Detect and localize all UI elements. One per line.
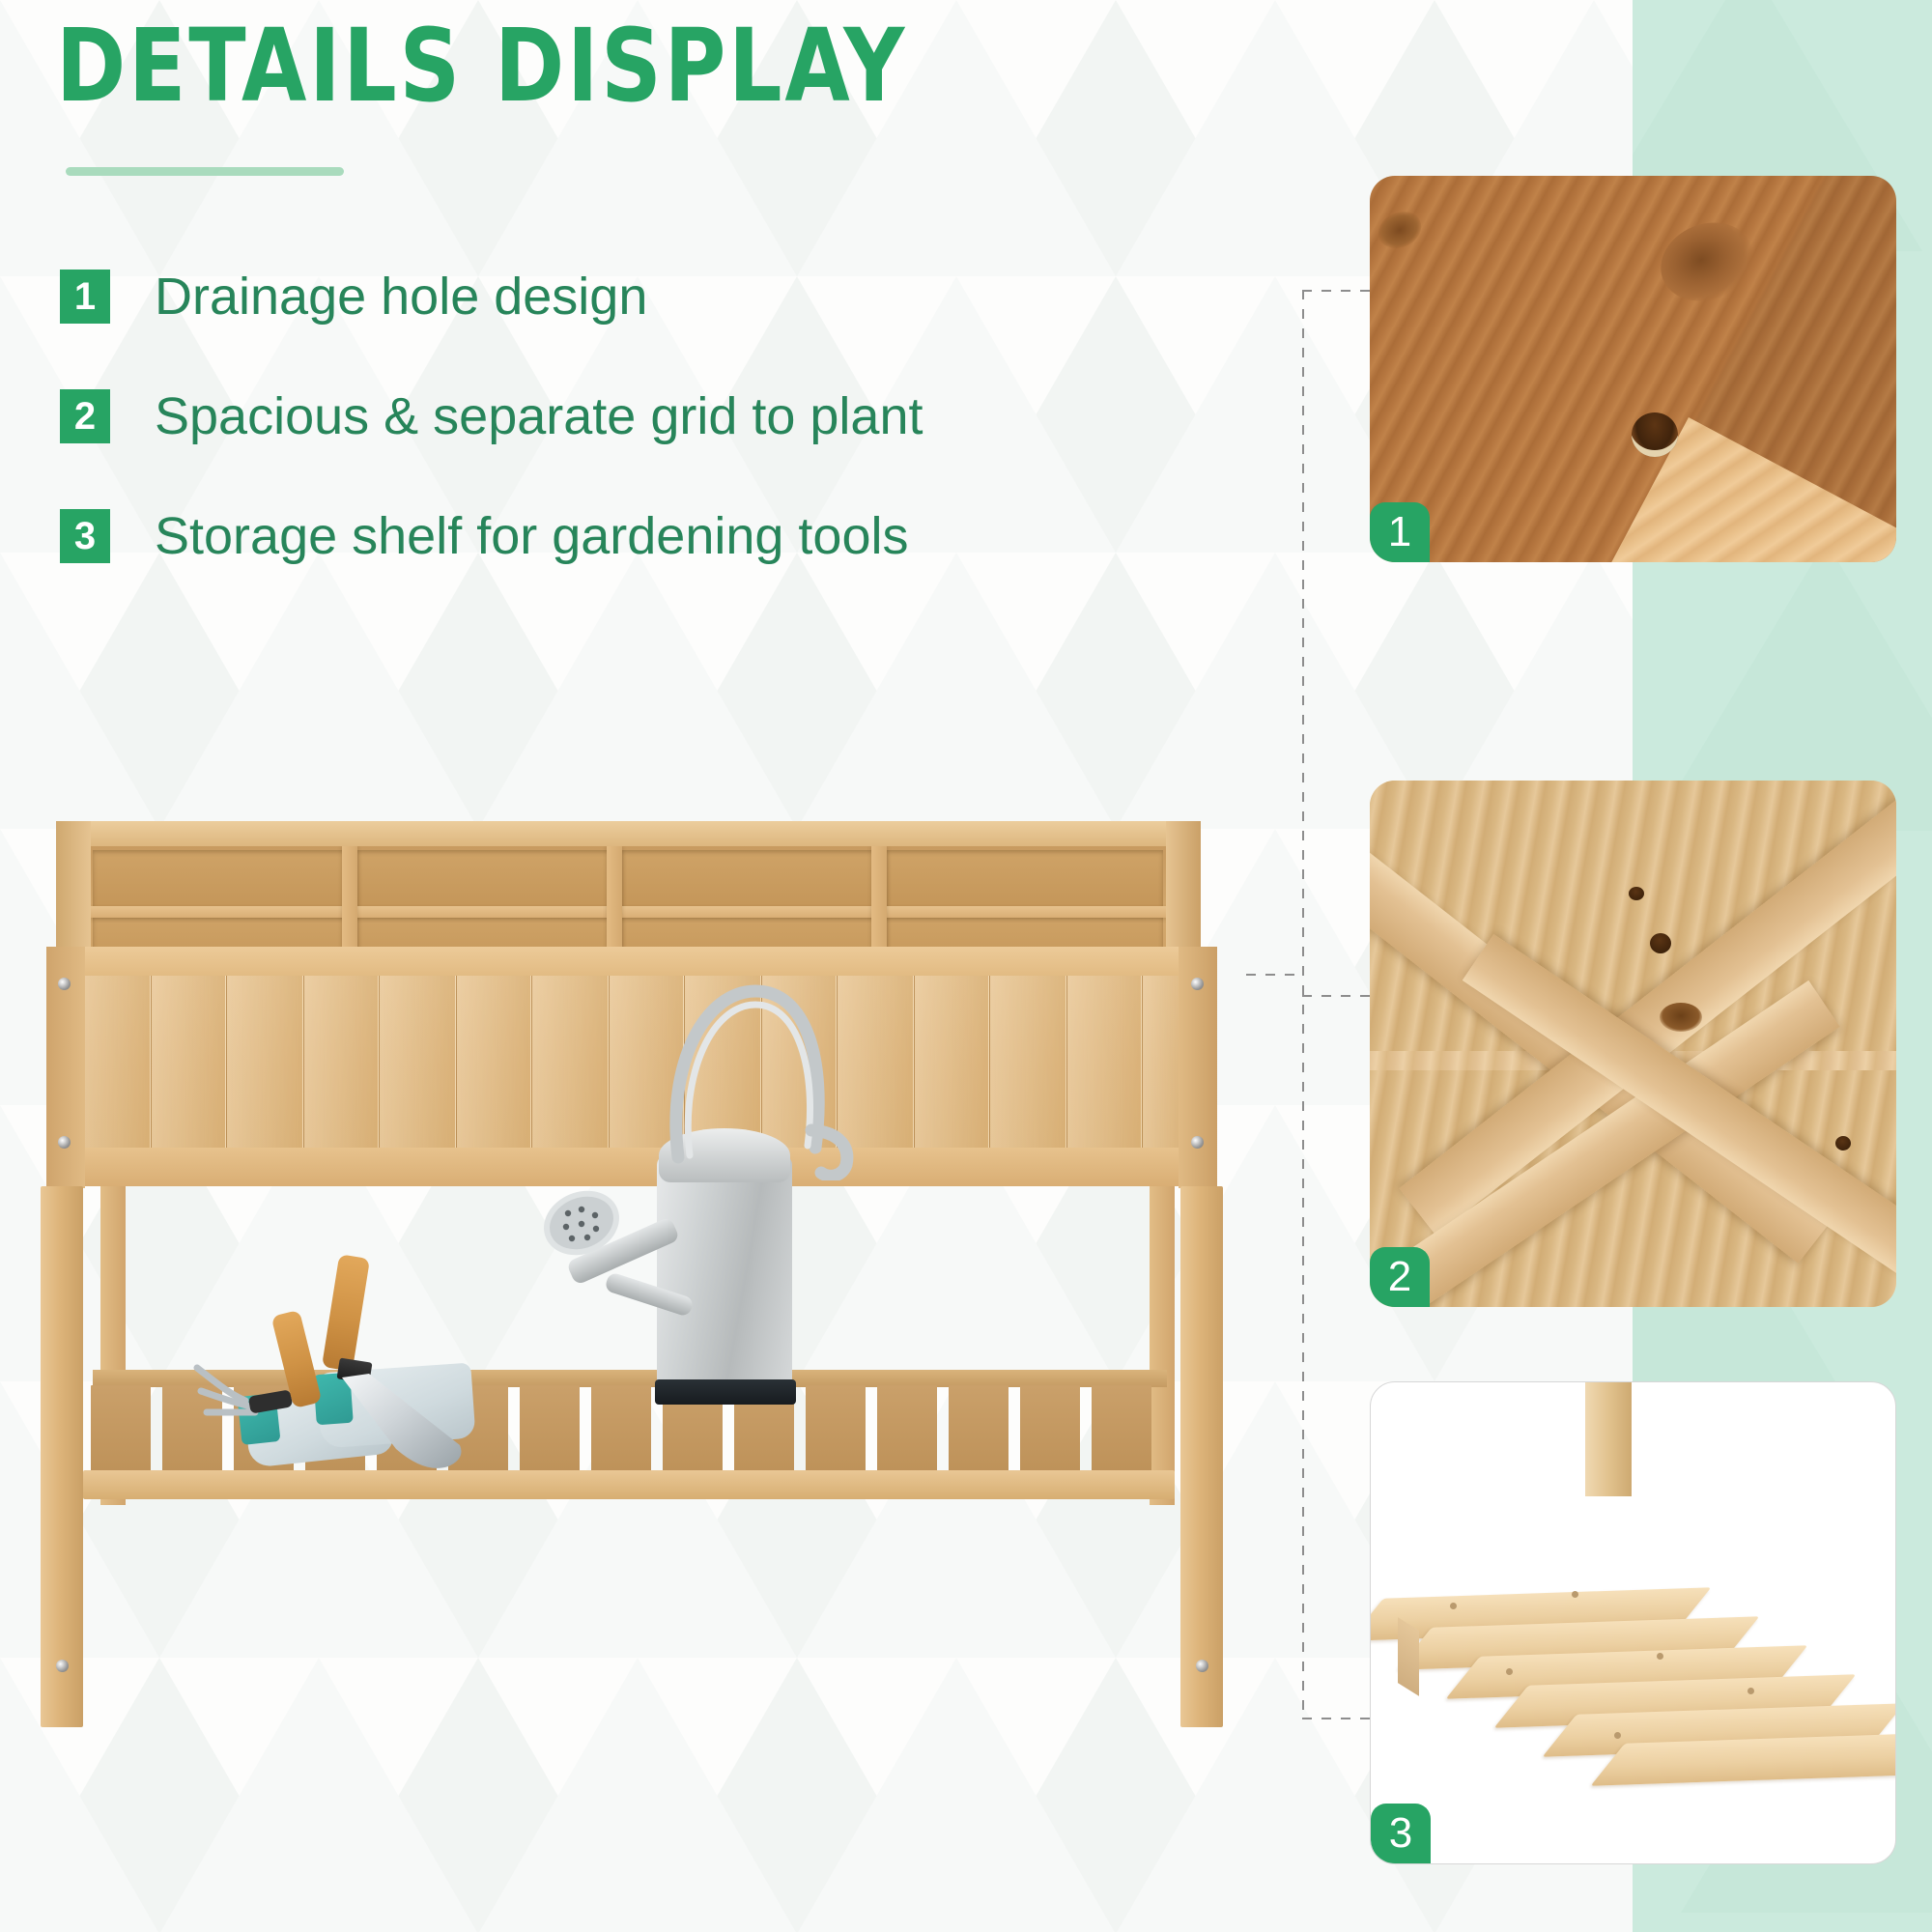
details-display-page: DETAILS DISPLAY 1 Drainage hole design 2… — [0, 0, 1932, 1932]
feature-badge-2: 2 — [60, 389, 110, 443]
panel2-screw-hole — [1650, 933, 1671, 953]
feature-item-2: 2 Spacious & separate grid to plant — [60, 356, 1045, 476]
page-title: DETAILS DISPLAY — [56, 15, 907, 116]
panel-badge-3: 3 — [1371, 1804, 1431, 1863]
shelf-front-rail — [83, 1470, 1175, 1499]
watering-can-rose-icon — [539, 1184, 624, 1262]
feature-item-3: 3 Storage shelf for gardening tools — [60, 476, 1045, 596]
detail-panel-drainage-hole: 1 — [1370, 176, 1896, 562]
feature-badge-3: 3 — [60, 509, 110, 563]
leg-front-right — [1180, 1186, 1223, 1727]
leg-front-left — [41, 1186, 83, 1727]
feature-label-2: Spacious & separate grid to plant — [155, 389, 923, 444]
connector-branch-1 — [1302, 290, 1379, 292]
screw-icon — [1196, 1660, 1208, 1672]
planter-rim-back — [56, 821, 1201, 846]
connector-branch-3 — [1302, 1718, 1379, 1719]
feature-label-1: Drainage hole design — [155, 270, 647, 325]
panel3-screw-icon — [1450, 1603, 1457, 1609]
panel3-screw-icon — [1506, 1668, 1513, 1675]
panel3-screw-icon — [1657, 1653, 1663, 1660]
connector-spine — [1302, 290, 1304, 1719]
product-image-raised-garden-bed — [29, 802, 1270, 1845]
panel3-shelf-edge — [1398, 1617, 1419, 1696]
watering-can-body — [657, 1155, 792, 1397]
connector-branch-2 — [1302, 995, 1379, 997]
drainage-hole — [1632, 412, 1678, 457]
panel3-shelf-group — [1370, 1479, 1896, 1798]
screw-icon — [1191, 978, 1204, 990]
panel3-screw-icon — [1572, 1591, 1578, 1598]
panel2-screw-mark — [1835, 1136, 1851, 1151]
panel-badge-1: 1 — [1370, 502, 1430, 562]
feature-badge-1: 1 — [60, 270, 110, 324]
feature-list: 1 Drainage hole design 2 Spacious & sepa… — [60, 237, 1045, 596]
watering-can-base — [655, 1379, 796, 1405]
watering-can-handles-icon — [622, 958, 873, 1180]
feature-item-1: 1 Drainage hole design — [60, 237, 1045, 356]
feature-label-3: Storage shelf for gardening tools — [155, 509, 909, 564]
screw-icon — [56, 1660, 69, 1672]
trowel-blade-icon — [336, 1374, 476, 1480]
screw-icon — [58, 978, 71, 990]
panel3-screw-icon — [1747, 1688, 1754, 1694]
panel1-light-board — [1544, 417, 1896, 562]
panel1-wood-knot — [1649, 209, 1765, 314]
detail-panel-grid-divider: 2 — [1370, 781, 1896, 1307]
title-underline — [66, 167, 344, 176]
panel2-knot-mark — [1629, 887, 1644, 900]
screw-icon — [58, 1136, 71, 1149]
divider-joint-knot — [1660, 1003, 1702, 1032]
panel3-screw-icon — [1614, 1732, 1621, 1739]
grid-divider-horizontal — [89, 906, 1167, 918]
screw-icon — [1191, 1136, 1204, 1149]
panel-badge-2: 2 — [1370, 1247, 1430, 1307]
panel1-wood-knot-small — [1373, 205, 1428, 255]
trowel-handle — [322, 1254, 370, 1372]
detail-panel-storage-shelf: 3 — [1370, 1381, 1896, 1864]
